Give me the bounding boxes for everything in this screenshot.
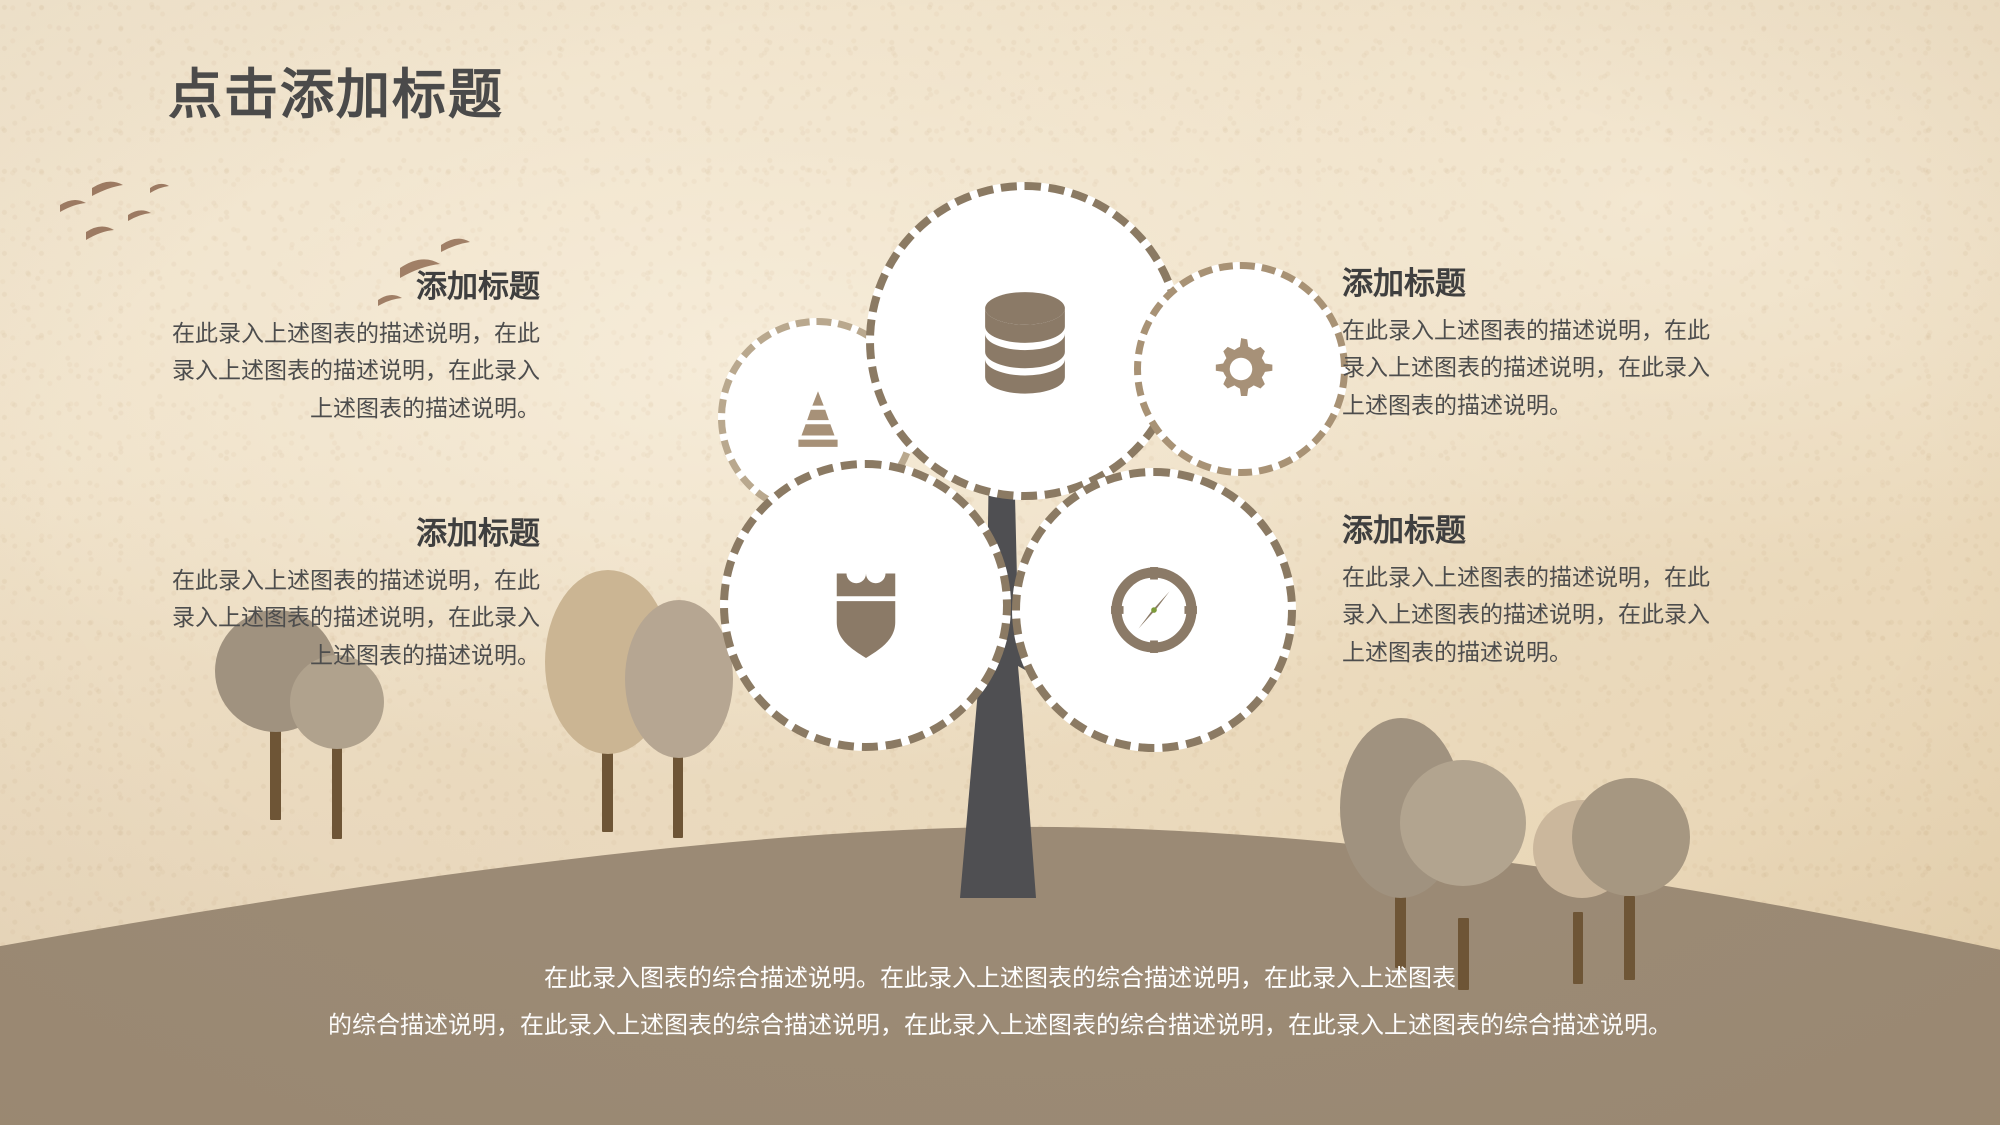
text-block-top-left: 添加标题 在此录入上述图表的描述说明，在此录入上述图表的描述说明，在此录入上述图… bbox=[160, 268, 540, 427]
small-tree-2 bbox=[290, 655, 410, 835]
database-icon bbox=[967, 283, 1083, 399]
gear-icon bbox=[1203, 331, 1279, 407]
block-body: 在此录入上述图表的描述说明，在此录入上述图表的描述说明，在此录入上述图表的描述说… bbox=[1342, 312, 1722, 424]
block-heading: 添加标题 bbox=[160, 515, 540, 552]
block-body: 在此录入上述图表的描述说明，在此录入上述图表的描述说明，在此录入上述图表的描述说… bbox=[160, 562, 540, 674]
tree-trunk bbox=[332, 743, 342, 839]
block-heading: 添加标题 bbox=[160, 268, 540, 305]
tree-canopy bbox=[625, 600, 733, 758]
text-block-top-right: 添加标题 在此录入上述图表的描述说明，在此录入上述图表的描述说明，在此录入上述图… bbox=[1342, 265, 1722, 424]
tree-canopy bbox=[1400, 760, 1526, 886]
bubble-compass[interactable] bbox=[1012, 468, 1296, 752]
bubble-database[interactable] bbox=[866, 182, 1184, 500]
compass-icon bbox=[1104, 560, 1204, 660]
shield-crown-icon bbox=[814, 554, 918, 658]
block-body: 在此录入上述图表的描述说明，在此录入上述图表的描述说明，在此录入上述图表的描述说… bbox=[160, 315, 540, 427]
block-heading: 添加标题 bbox=[1342, 512, 1722, 549]
summary-caption: 在此录入图表的综合描述说明。在此录入上述图表的综合描述说明，在此录入上述图表 的… bbox=[0, 956, 2000, 1050]
slide-canvas: 点击添加标题 bbox=[0, 0, 2000, 1125]
block-body: 在此录入上述图表的描述说明，在此录入上述图表的描述说明，在此录入上述图表的描述说… bbox=[1342, 559, 1722, 671]
tree-trunk bbox=[673, 752, 683, 838]
bubble-gear[interactable] bbox=[1134, 262, 1348, 476]
bubble-shield[interactable] bbox=[720, 460, 1011, 751]
traffic-cone-icon bbox=[785, 385, 851, 451]
block-heading: 添加标题 bbox=[1342, 265, 1722, 302]
tree-canopy bbox=[1572, 778, 1690, 896]
caption-line-1: 在此录入图表的综合描述说明。在此录入上述图表的综合描述说明，在此录入上述图表 bbox=[130, 956, 1870, 1003]
text-block-bottom-right: 添加标题 在此录入上述图表的描述说明，在此录入上述图表的描述说明，在此录入上述图… bbox=[1342, 512, 1722, 671]
tree-trunk bbox=[602, 748, 613, 832]
text-block-bottom-left: 添加标题 在此录入上述图表的描述说明，在此录入上述图表的描述说明，在此录入上述图… bbox=[160, 515, 540, 674]
tree-trunk bbox=[270, 722, 281, 820]
page-title: 点击添加标题 bbox=[168, 66, 504, 125]
caption-line-2: 的综合描述说明，在此录入上述图表的综合描述说明，在此录入上述图表的综合描述说明，… bbox=[130, 1003, 1870, 1050]
